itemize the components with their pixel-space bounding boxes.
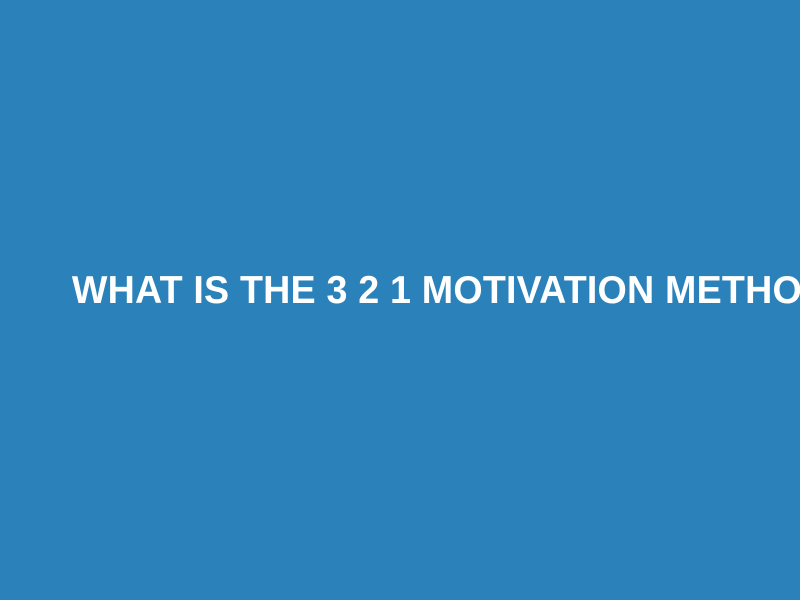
page-title: WHAT IS THE 3 2 1 MOTIVATION METHOD?	[72, 269, 728, 313]
featured-image-card: WHAT IS THE 3 2 1 MOTIVATION METHOD?	[0, 0, 800, 600]
title-container: WHAT IS THE 3 2 1 MOTIVATION METHOD?	[0, 269, 800, 313]
